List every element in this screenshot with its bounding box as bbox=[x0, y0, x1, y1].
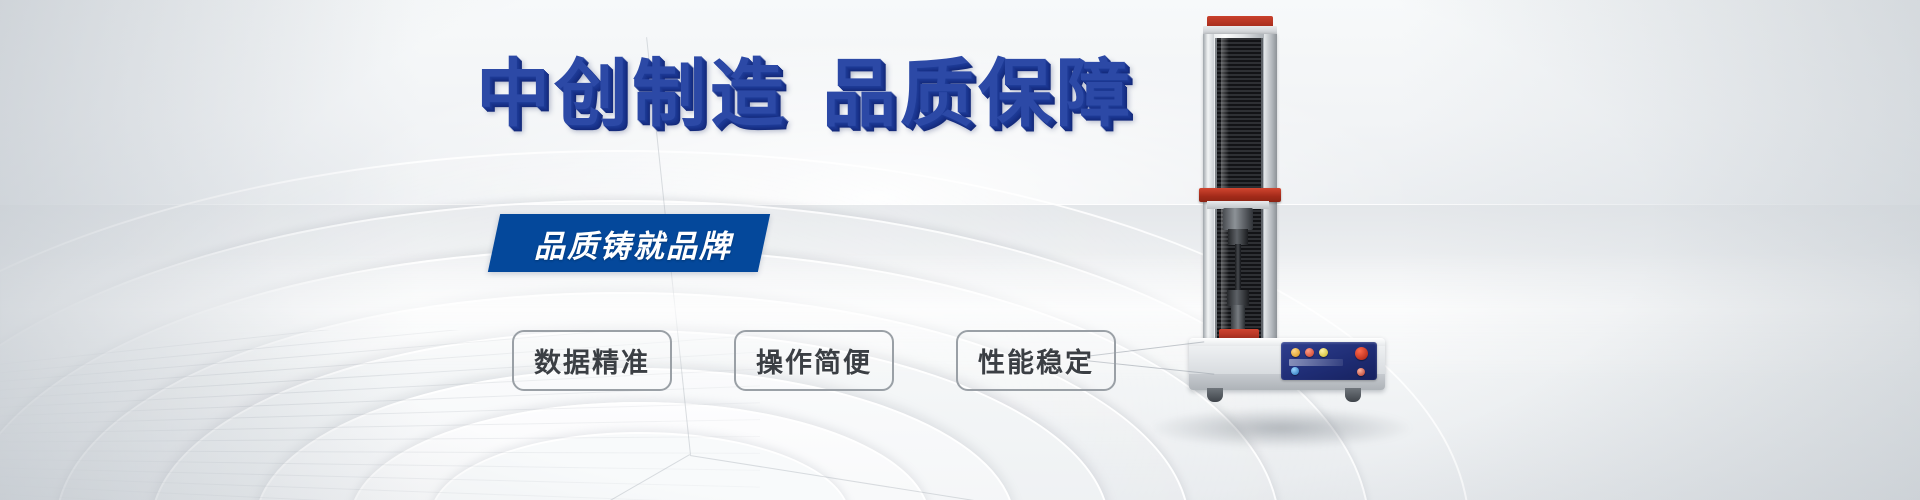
standards-note-label: 所有产品均符合国家标准 bbox=[782, 224, 1101, 263]
hero-banner: 中创制造品质保障 品质铸就品牌 所有产品均符合国家标准 数据精准 操作简便 性能… bbox=[0, 0, 1920, 500]
feature-pill-accurate-data: 数据精准 bbox=[512, 330, 672, 391]
headline-part-2: 品质保障 bbox=[822, 51, 1134, 137]
standards-note: 所有产品均符合国家标准 bbox=[742, 214, 1127, 272]
quality-badge-label: 品质铸就品牌 bbox=[534, 221, 732, 266]
feature-pill-stable-performance: 性能稳定 bbox=[956, 330, 1116, 391]
tagline-row: 品质铸就品牌 所有产品均符合国家标准 bbox=[494, 214, 1127, 272]
banner-content: 中创制造品质保障 品质铸就品牌 所有产品均符合国家标准 数据精准 操作简便 性能… bbox=[0, 0, 1920, 500]
feature-pill-list: 数据精准 操作简便 性能稳定 bbox=[512, 330, 1116, 391]
feature-pill-easy-operation: 操作简便 bbox=[734, 330, 894, 391]
headline-part-1: 中创制造 bbox=[476, 51, 788, 137]
banner-headline: 中创制造品质保障 bbox=[476, 57, 1134, 131]
quality-badge: 品质铸就品牌 bbox=[488, 214, 770, 272]
